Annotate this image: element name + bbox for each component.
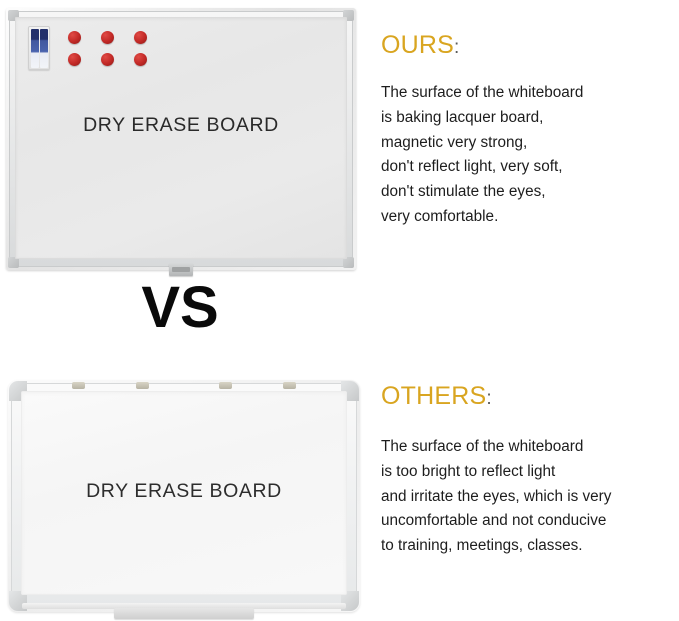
ours-heading: OURS: <box>381 33 671 58</box>
blue-marker-icon <box>40 29 48 68</box>
red-magnet-icon <box>68 31 81 44</box>
others-board-label: DRY ERASE BOARD <box>22 480 346 503</box>
ours-heading-text: OURS <box>381 31 454 59</box>
ours-whiteboard: DRY ERASE BOARD <box>6 8 356 270</box>
marker-holder-icon <box>28 26 50 70</box>
mounting-screw-icon <box>72 382 85 389</box>
red-magnet-icon <box>101 53 114 66</box>
blue-marker-icon <box>31 29 39 68</box>
others-board-surface: DRY ERASE BOARD <box>21 391 347 595</box>
ours-board-surface: DRY ERASE BOARD <box>15 17 347 259</box>
comparison-graphic: DRY ERASE BOARD VS DRY ERASE BOARD OURS:… <box>0 0 679 621</box>
red-magnet-icon <box>134 53 147 66</box>
ours-board-label: DRY ERASE BOARD <box>16 114 346 137</box>
ours-text-column: OURS: The surface of the whiteboard is b… <box>381 33 671 230</box>
ours-heading-colon: : <box>454 37 459 58</box>
red-magnet-icon <box>134 31 147 44</box>
mounting-screw-icon <box>219 382 232 389</box>
others-text-column: OTHERS: The surface of the whiteboard is… <box>381 384 671 559</box>
others-pen-ledge <box>114 608 254 619</box>
others-description: The surface of the whiteboard is too bri… <box>381 435 671 559</box>
red-magnet-icon <box>68 53 81 66</box>
mounting-screw-icon <box>136 382 149 389</box>
others-whiteboard: DRY ERASE BOARD <box>8 380 360 612</box>
others-heading: OTHERS: <box>381 384 671 409</box>
red-magnet-icon <box>101 31 114 44</box>
versus-label: VS <box>110 279 250 337</box>
ours-description: The surface of the whiteboard is baking … <box>381 81 671 230</box>
others-heading-colon: : <box>486 388 491 409</box>
mounting-screw-icon <box>283 382 296 389</box>
others-heading-text: OTHERS <box>381 382 486 410</box>
